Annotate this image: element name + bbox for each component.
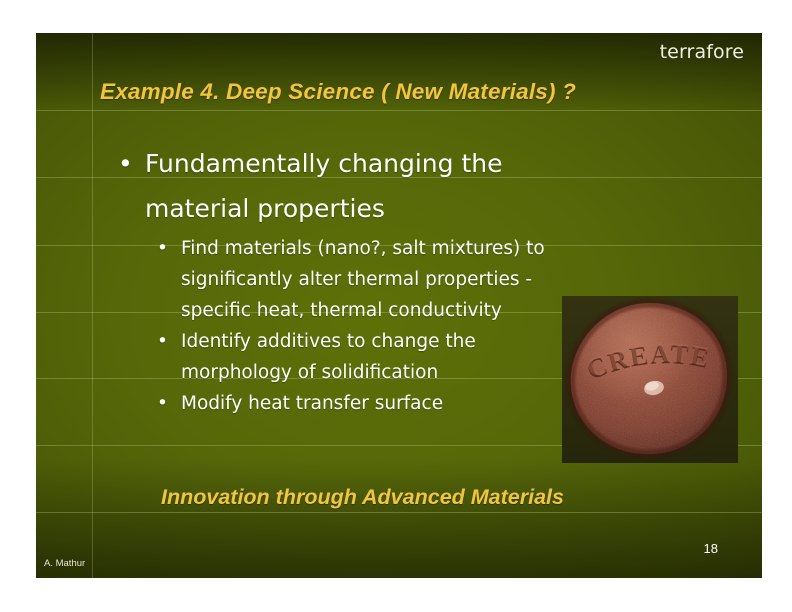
- bullet-level2-text: Identify additives to change the morphol…: [181, 326, 577, 388]
- bullet-level2-text: Find materials (nano?, salt mixtures) to…: [181, 233, 577, 326]
- bullet-glyph-icon: •: [157, 388, 168, 419]
- bullet-level2-item: • Find materials (nano?, salt mixtures) …: [157, 233, 577, 326]
- bullet-glyph-icon: •: [157, 233, 168, 264]
- footer-author: A. Mathur: [44, 558, 85, 569]
- presentation-slide: terrafore Example 4. Deep Science ( New …: [36, 33, 762, 578]
- bullet-level2-item: • Modify heat transfer surface: [157, 388, 577, 419]
- bullet-level2-item: • Identify additives to change the morph…: [157, 326, 577, 388]
- bullet-glyph-icon: •: [118, 141, 133, 186]
- bullet-level2-list: • Find materials (nano?, salt mixtures) …: [157, 233, 577, 419]
- bullet-level1: • Fundamentally changing the material pr…: [118, 141, 548, 231]
- bullet-glyph-icon: •: [157, 326, 168, 357]
- footer-page-number: 18: [704, 541, 718, 556]
- bullet-level1-text: Fundamentally changing the material prop…: [145, 141, 548, 231]
- bullet-level2-text: Modify heat transfer surface: [181, 388, 577, 419]
- slide-tagline: Innovation through Advanced Materials: [161, 485, 564, 510]
